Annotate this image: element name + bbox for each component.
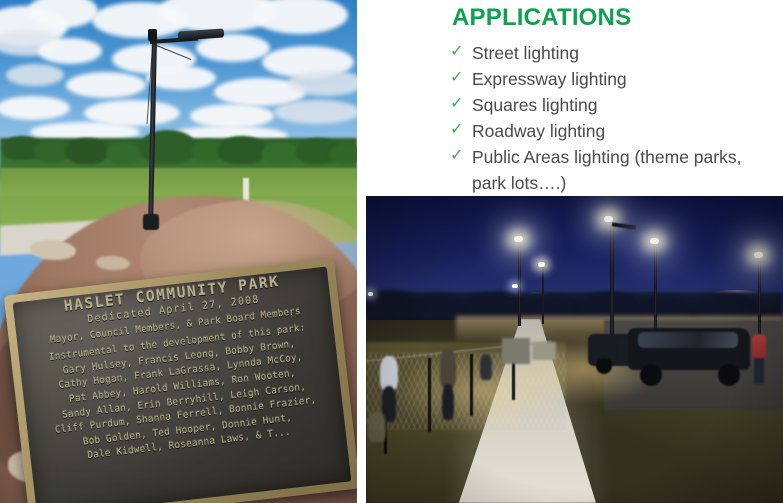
list-item: ✓ Public Areas lighting (theme parks, pa… xyxy=(450,144,780,196)
list-item-label: Expressway lighting xyxy=(472,69,627,89)
led-lamp-icon xyxy=(650,238,659,244)
light-pole xyxy=(518,240,521,326)
pole-base xyxy=(143,214,159,230)
person-red-jacket-legs xyxy=(754,358,764,384)
sign-board xyxy=(532,342,556,360)
applications-panel: APPLICATIONS ✓ Street lighting ✓ Express… xyxy=(366,0,783,196)
cloud xyxy=(190,104,274,128)
park-dedication-plaque: HASLET COMMUNITY PARK Dedicated April 27… xyxy=(4,258,357,503)
list-item: ✓ Expressway lighting xyxy=(450,66,780,92)
list-item-label: Squares lighting xyxy=(472,95,598,115)
person xyxy=(440,348,456,388)
cloud xyxy=(6,64,64,86)
tree xyxy=(66,138,108,164)
list-item-label: Public Areas lighting (theme parks, xyxy=(472,147,741,167)
list-item-label: Roadway lighting xyxy=(472,121,605,141)
check-icon: ✓ xyxy=(450,117,463,143)
pole-top-cap xyxy=(148,29,157,41)
rock xyxy=(30,240,76,260)
person xyxy=(380,356,398,390)
rock xyxy=(96,256,130,270)
list-item: ✓ Street lighting xyxy=(450,40,780,66)
tree xyxy=(140,130,196,164)
tree xyxy=(262,142,300,164)
cloud xyxy=(274,100,357,124)
person xyxy=(480,354,492,380)
tree xyxy=(106,142,140,164)
check-icon: ✓ xyxy=(450,65,463,91)
tree xyxy=(34,140,70,162)
suv-front-wheel xyxy=(640,364,662,386)
led-lamp-icon xyxy=(368,292,373,296)
led-lamp-icon xyxy=(512,284,518,288)
cloud xyxy=(38,38,102,64)
list-item-label: Street lighting xyxy=(472,43,579,63)
applications-list: ✓ Street lighting ✓ Expressway lighting … xyxy=(450,40,780,196)
cloud xyxy=(66,72,146,98)
person-red-jacket xyxy=(752,334,766,360)
cloud xyxy=(146,66,216,90)
suv-windows xyxy=(638,332,738,348)
check-icon: ✓ xyxy=(450,143,463,169)
tree xyxy=(218,136,266,164)
led-lamp-icon xyxy=(754,252,763,258)
check-icon: ✓ xyxy=(450,39,463,65)
list-item: ✓ Squares lighting xyxy=(450,92,780,118)
utility-box xyxy=(502,338,530,364)
led-lamp-icon xyxy=(604,216,613,222)
cloud xyxy=(288,70,357,96)
dog xyxy=(368,412,386,442)
list-item: ✓ Roadway lighting xyxy=(450,118,780,144)
tree xyxy=(330,144,357,164)
check-icon: ✓ xyxy=(450,91,463,117)
suv-rear-wheel xyxy=(718,364,740,386)
fence-post xyxy=(470,354,473,416)
led-lamp-icon xyxy=(538,262,545,267)
list-item-label-line2: park lots….) xyxy=(472,170,780,196)
slide-canvas: HASLET COMMUNITY PARK Dedicated April 27… xyxy=(0,0,783,503)
car-wheel xyxy=(596,358,612,374)
person-legs xyxy=(442,384,454,420)
plaque-text-block: HASLET COMMUNITY PARK Dedicated April 27… xyxy=(21,269,340,469)
light-pole xyxy=(542,266,544,324)
night-parking-lot-photo xyxy=(366,196,783,503)
daytime-park-photo: HASLET COMMUNITY PARK Dedicated April 27… xyxy=(0,0,357,503)
led-lamp-icon xyxy=(514,236,523,242)
page-title: APPLICATIONS xyxy=(452,4,631,32)
fence-post xyxy=(428,358,431,432)
